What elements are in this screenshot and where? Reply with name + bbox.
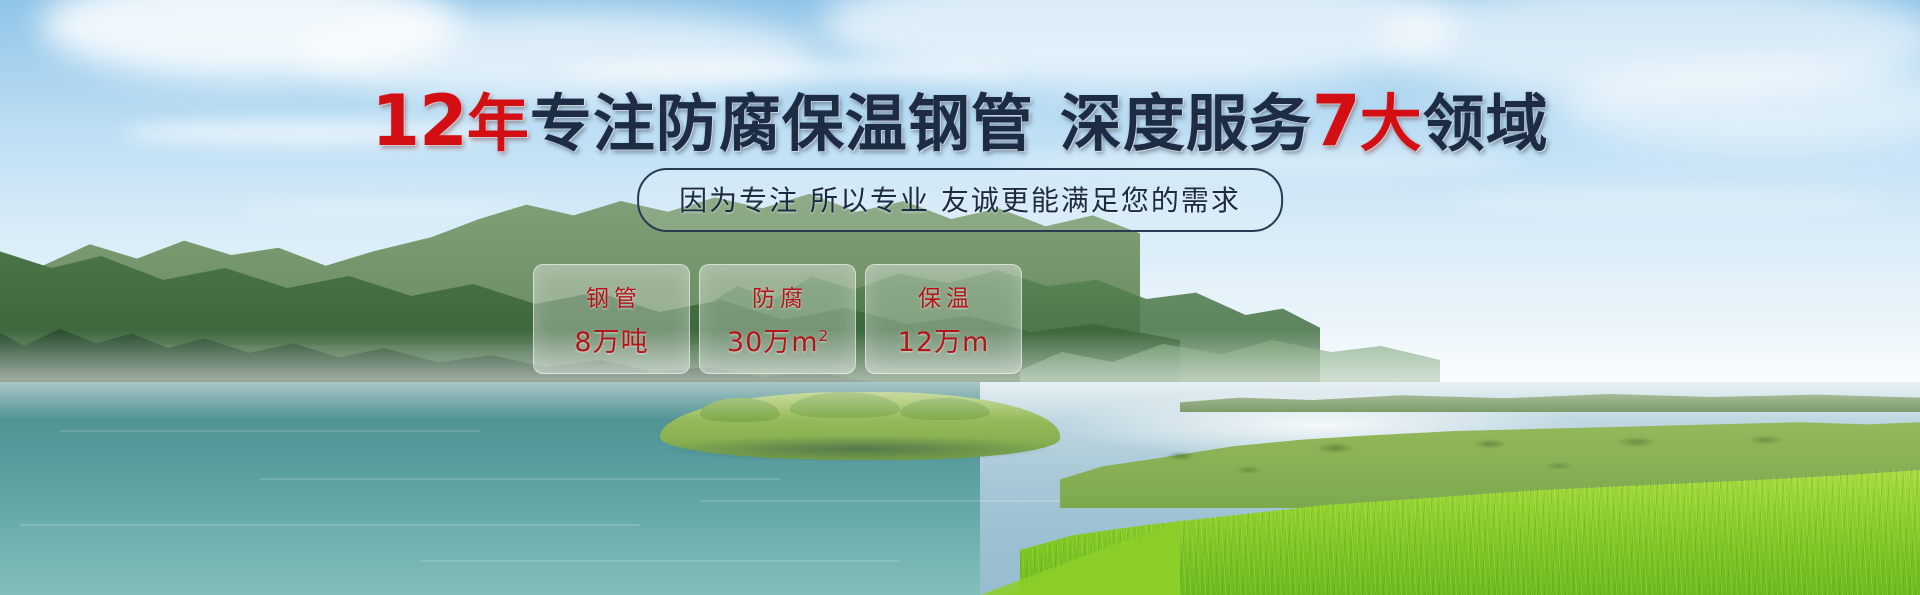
stat-card-group: 钢管 8万吨 防腐 30万m2 保温 12万m: [533, 264, 1022, 374]
banner-content: 12年专注防腐保温钢管深度服务7大领域 因为专注 所以专业 友诚更能满足您的需求…: [0, 0, 1920, 595]
stat-card-value: 12万m: [898, 320, 990, 359]
stat-card-steel-pipe[interactable]: 钢管 8万吨: [533, 264, 690, 374]
stat-card-insulation[interactable]: 保温 12万m: [865, 264, 1022, 374]
stat-value-text: 8万吨: [574, 327, 648, 358]
stat-card-title: 保温: [913, 279, 974, 313]
stat-card-value: 30万m2: [727, 320, 828, 359]
stat-value-superscript: 2: [819, 327, 829, 345]
headline-focus-text: 专注防腐保温钢管: [530, 87, 1034, 160]
headline-fields-text: 领域: [1423, 87, 1549, 160]
headline-fields-number: 7: [1312, 80, 1360, 162]
stat-value-text: 12万m: [898, 327, 990, 358]
headline-fields-unit: 大: [1360, 87, 1423, 160]
hero-banner: 12年专注防腐保温钢管深度服务7大领域 因为专注 所以专业 友诚更能满足您的需求…: [0, 0, 1920, 595]
headline-years-unit: 年: [467, 87, 530, 160]
stat-card-value: 8万吨: [574, 320, 648, 359]
stat-card-anticorrosion[interactable]: 防腐 30万m2: [699, 264, 856, 374]
stat-card-title: 钢管: [581, 279, 642, 313]
banner-headline: 12年专注防腐保温钢管深度服务7大领域: [0, 86, 1920, 156]
headline-service-text: 深度服务: [1060, 87, 1312, 160]
stat-value-unit: 万m: [763, 327, 818, 358]
headline-years-number: 12: [371, 80, 466, 162]
banner-subtitle-pill: 因为专注 所以专业 友诚更能满足您的需求: [637, 168, 1283, 232]
stat-card-title: 防腐: [747, 279, 808, 313]
stat-value-number: 30: [727, 327, 763, 358]
